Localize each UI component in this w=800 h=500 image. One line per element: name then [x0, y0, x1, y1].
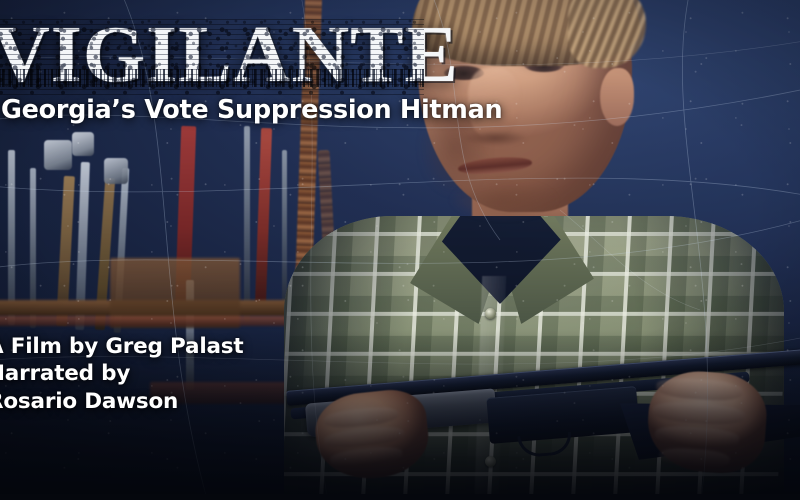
bottom-fade — [0, 330, 800, 500]
bottom-letterbox-bar — [0, 494, 800, 500]
film-title-card: VIGILANTE Georgia’s Vote Suppression Hit… — [0, 0, 800, 500]
